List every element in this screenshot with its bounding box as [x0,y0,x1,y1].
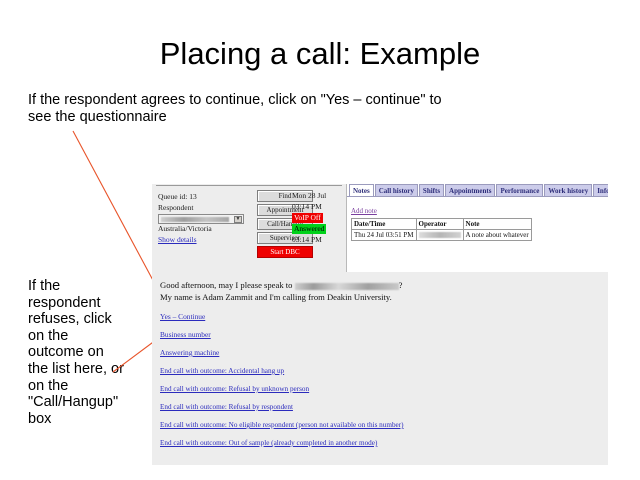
notes-panel-body: Add note Date/Time Operator Note Thu 24 … [347,197,608,241]
tab-work-history[interactable]: Work history [544,184,592,196]
respondent-info-block: Queue id: 13 Respondent ▼ Australia/Vict… [158,192,258,245]
slide: Placing a call: Example If the responden… [0,0,640,480]
add-note-link[interactable]: Add note [351,207,377,215]
start-dbc-button[interactable]: Start DBC [257,246,313,258]
column-note: Note [463,219,531,230]
notes-table: Date/Time Operator Note Thu 24 Jul 03:51… [351,218,532,241]
respondent-redacted-value [161,217,229,222]
table-row[interactable]: Thu 24 Jul 03:51 PM A note about whateve… [352,230,532,241]
cell-note: A note about whatever [463,230,531,241]
tab-notes[interactable]: Notes [349,184,374,196]
caption-top-text: If the respondent agrees to continue, cl… [28,92,468,126]
show-details-link[interactable]: Show details [158,235,197,244]
option-answering-machine[interactable]: Answering machine [160,348,608,357]
status-time-bottom: 03:14 PM [292,234,346,245]
header-divider [156,185,342,186]
greeting-text: Good afternoon, may I please speak to ? … [160,280,608,303]
greeting-line2: My name is Adam Zammit and I'm calling f… [160,292,392,302]
queue-id-label: Queue id: 13 [158,192,258,203]
page-title: Placing a call: Example [0,36,640,72]
respondent-label: Respondent [158,203,258,214]
app-header-region: Queue id: 13 Respondent ▼ Australia/Vict… [152,184,608,272]
call-state-badge: Answered [292,224,326,234]
outcome-accidental-hang-up[interactable]: End call with outcome: Accidental hang u… [160,367,608,375]
option-business-number[interactable]: Business number [160,330,608,339]
chevron-down-icon[interactable]: ▼ [234,216,242,223]
cell-datetime: Thu 24 Jul 03:51 PM [352,230,417,241]
outcome-refusal-unknown-person[interactable]: End call with outcome: Refusal by unknow… [160,385,608,393]
outcome-no-eligible-respondent[interactable]: End call with outcome: No eligible respo… [160,421,608,429]
app-screenshot: Queue id: 13 Respondent ▼ Australia/Vict… [152,184,608,465]
table-header-row: Date/Time Operator Note [352,219,532,230]
tab-performance[interactable]: Performance [496,184,543,196]
cell-operator [416,230,463,241]
outcome-out-of-sample[interactable]: End call with outcome: Out of sample (al… [160,439,608,447]
outcome-refusal-respondent[interactable]: End call with outcome: Refusal by respon… [160,403,608,411]
call-script-area: Good afternoon, may I please speak to ? … [152,272,608,465]
voip-status-badge: VoIP Off [292,213,323,223]
tab-shifts[interactable]: Shifts [419,184,444,196]
arrow-to-yes-continue [73,131,163,299]
column-operator: Operator [416,219,463,230]
respondent-select[interactable]: ▼ [158,214,244,224]
caption-left-text: If the respondent refuses, click on the … [28,278,124,427]
status-time-top: 03:14 PM [292,201,346,212]
respondent-name-redacted [295,283,399,290]
tab-panel: Notes Call history Shifts Appointments P… [346,184,608,272]
tab-info[interactable]: Info [593,184,608,196]
operator-redacted [419,232,461,238]
greeting-line1-after: ? [399,280,403,290]
tab-call-history[interactable]: Call history [375,184,418,196]
status-date: Mon 28 Jul [292,190,346,201]
timezone-label: Australia/Victoria [158,224,258,235]
column-datetime: Date/Time [352,219,417,230]
greeting-line1-before: Good afternoon, may I please speak to [160,280,295,290]
call-status-column: Mon 28 Jul 03:14 PM VoIP Off Answered 03… [292,190,346,245]
outcome-link-list: End call with outcome: Accidental hang u… [160,367,608,447]
tab-bar: Notes Call history Shifts Appointments P… [347,184,608,197]
option-yes-continue[interactable]: Yes – Continue [160,312,608,321]
tab-appointments[interactable]: Appointments [445,184,495,196]
